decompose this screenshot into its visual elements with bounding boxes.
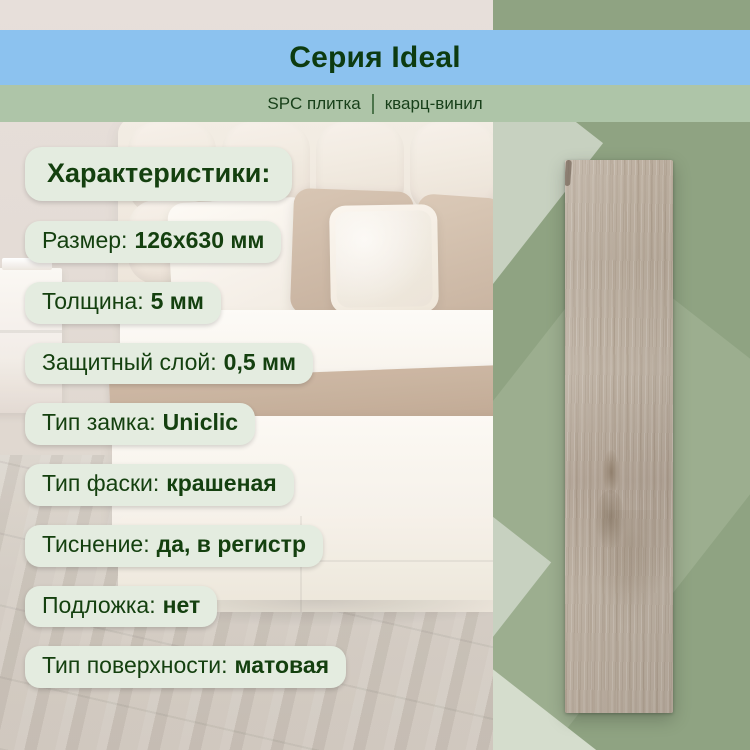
spec-value: нет [163,593,201,619]
spec-item-underlay: Подложка: нет [25,586,217,628]
spec-value: 5 мм [151,289,204,315]
spec-row: Подложка: нет [25,586,485,647]
specs-list: Характеристики: Размер: 126x630 мм Толщи… [25,147,485,707]
spec-label: Тип замка: [42,410,156,436]
subtitle-left: SPC плитка [267,94,360,114]
spec-row: Тип фаски: крашеная [25,464,485,525]
spec-item-size: Размер: 126x630 мм [25,221,281,263]
spec-value: 126x630 мм [134,228,264,254]
spec-row: Толщина: 5 мм [25,282,485,343]
spec-item-bevel-type: Тип фаски: крашеная [25,464,294,506]
poster-canvas: Серия Ideal SPC плитка кварц-винил Харак… [0,0,750,750]
spec-label: Тип поверхности: [42,653,228,679]
product-plank-image [565,160,673,713]
spec-item-thickness: Толщина: 5 мм [25,282,221,324]
spec-item-surface-type: Тип поверхности: матовая [25,646,346,688]
spec-item-embossing: Тиснение: да, в регистр [25,525,323,567]
spec-row: Тип поверхности: матовая [25,646,485,707]
spec-label: Толщина: [42,289,144,315]
spec-value: крашеная [166,471,276,497]
spec-label: Защитный слой: [42,350,217,376]
spec-item-wear-layer: Защитный слой: 0,5 мм [25,343,313,385]
spec-row: Тиснение: да, в регистр [25,525,485,586]
spec-label: Тип фаски: [42,471,159,497]
plank-highlight [565,160,673,713]
page-subtitle: SPC плитка кварц-винил [0,85,750,122]
subtitle-right: кварц-винил [385,94,483,114]
spec-label: Размер: [42,228,127,254]
spec-value: 0,5 мм [224,350,296,376]
spec-row: Размер: 126x630 мм [25,221,485,282]
page-title: Серия Ideal [0,30,750,85]
spec-value: матовая [235,653,330,679]
specs-heading-row: Характеристики: [25,147,485,221]
spec-value: Uniclic [163,410,238,436]
spec-label: Подложка: [42,593,156,619]
spec-item-lock-type: Тип замка: Uniclic [25,403,255,445]
subtitle-separator-icon [372,94,374,114]
spec-value: да, в регистр [157,532,306,558]
spec-row: Тип замка: Uniclic [25,403,485,464]
spec-row: Защитный слой: 0,5 мм [25,343,485,404]
spec-label: Тиснение: [42,532,150,558]
specs-heading: Характеристики: [25,147,292,201]
